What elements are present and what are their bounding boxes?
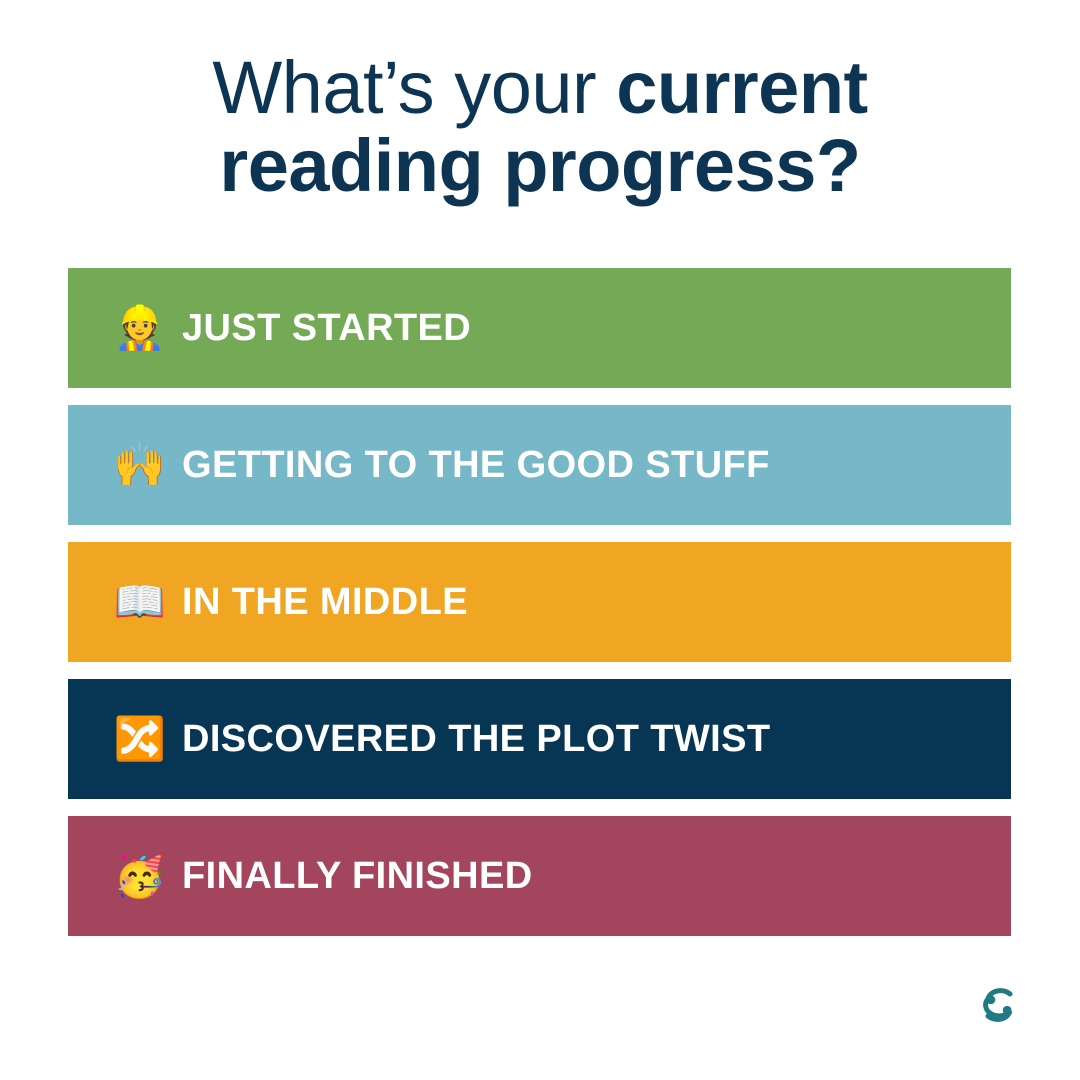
- open-book-emoji: 📖: [112, 581, 168, 623]
- option-label-getting-to-the-good-stuff: GETTING TO THE GOOD STUFF: [182, 444, 770, 487]
- option-label-in-the-middle: IN THE MIDDLE: [182, 581, 468, 624]
- storygraph-logo-icon: [976, 982, 1022, 1028]
- page-title: What’s your current reading progress?: [0, 52, 1080, 202]
- title-line-2: reading progress?: [0, 130, 1080, 202]
- poster-canvas: What’s your current reading progress? 👷 …: [0, 0, 1080, 1080]
- option-bar-just-started[interactable]: 👷 JUST STARTED: [68, 268, 1011, 388]
- title-line-1: What’s your current: [0, 52, 1080, 124]
- option-bar-in-the-middle[interactable]: 📖 IN THE MIDDLE: [68, 542, 1011, 662]
- option-bar-getting-to-the-good-stuff[interactable]: 🙌 GETTING TO THE GOOD STUFF: [68, 405, 1011, 525]
- option-label-just-started: JUST STARTED: [182, 307, 471, 350]
- title-part-regular: What’s your: [212, 46, 616, 129]
- option-label-finally-finished: FINALLY FINISHED: [182, 855, 533, 898]
- option-list: 👷 JUST STARTED 🙌 GETTING TO THE GOOD STU…: [68, 268, 1011, 936]
- shuffle-tracks-emoji: 🔀: [112, 718, 168, 760]
- option-label-discovered-the-plot-twist: DISCOVERED THE PLOT TWIST: [182, 718, 770, 761]
- option-bar-finally-finished[interactable]: 🥳 FINALLY FINISHED: [68, 816, 1011, 936]
- partying-face-emoji: 🥳: [112, 855, 168, 897]
- title-part-bold-current: current: [616, 46, 867, 129]
- raising-hands-emoji: 🙌: [112, 444, 168, 486]
- construction-worker-emoji: 👷: [112, 307, 168, 349]
- option-bar-discovered-the-plot-twist[interactable]: 🔀 DISCOVERED THE PLOT TWIST: [68, 679, 1011, 799]
